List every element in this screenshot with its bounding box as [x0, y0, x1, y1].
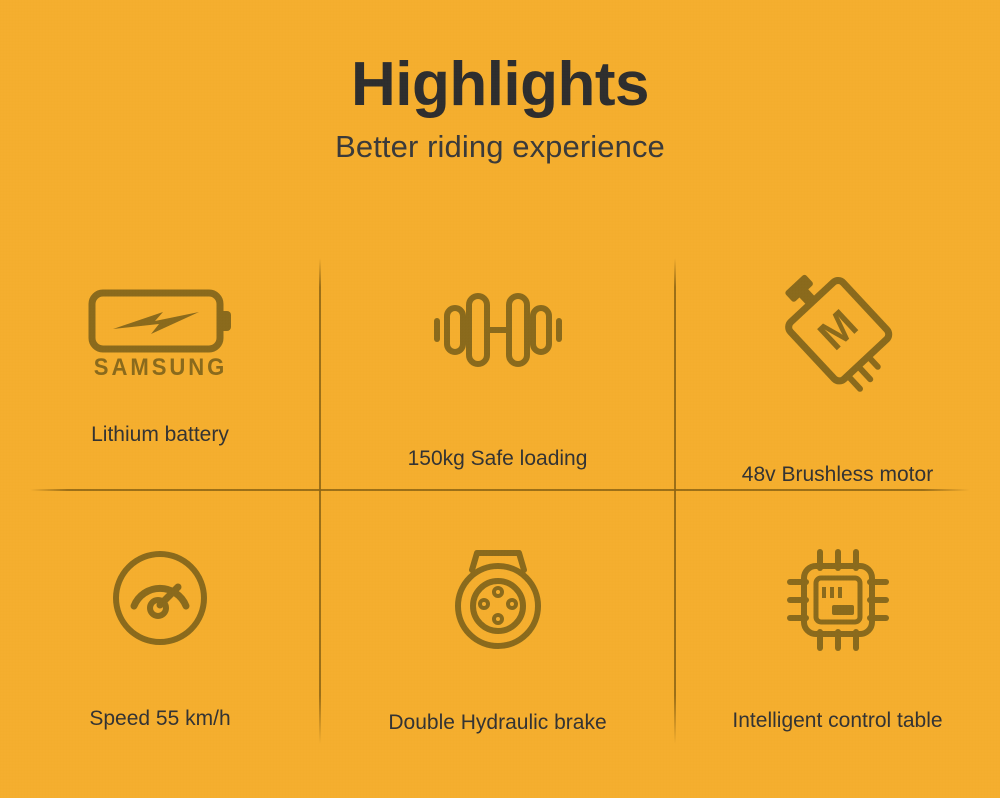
- feature-cell-safe-loading: 150kg Safe loading: [320, 246, 675, 469]
- battery-brand-label: SAMSUNG: [94, 356, 227, 380]
- feature-cell-speed: Speed 55 km/h: [0, 504, 320, 729]
- battery-bolt-icon: SAMSUNG: [87, 288, 233, 380]
- electric-motor-icon: M: [776, 268, 900, 392]
- feature-label-brushless-motor: 48v Brushless motor: [742, 464, 933, 485]
- feature-label-speed: Speed 55 km/h: [89, 708, 230, 729]
- feature-grid: SAMSUNG Lithium battery: [0, 246, 1000, 756]
- page-title: Highlights: [0, 0, 1000, 117]
- feature-label-safe-loading: 150kg Safe loading: [408, 448, 588, 469]
- feature-cell-control-table: Intelligent control table: [675, 504, 1000, 731]
- feature-label-lithium-battery: Lithium battery: [91, 424, 229, 445]
- page-subtitle: Better riding experience: [0, 117, 1000, 165]
- feature-label-hydraulic-brake: Double Hydraulic brake: [388, 712, 606, 733]
- brake-disc-icon: [446, 544, 550, 652]
- header: Highlights Better riding experience: [0, 0, 1000, 165]
- dumbbell-icon: [431, 288, 565, 372]
- svg-text:M: M: [808, 301, 866, 359]
- speedometer-icon: [110, 548, 210, 648]
- feature-cell-hydraulic-brake: Double Hydraulic brake: [320, 504, 675, 733]
- feature-cell-brushless-motor: M 48v Brushless motor: [675, 246, 1000, 485]
- feature-label-control-table: Intelligent control table: [732, 710, 942, 731]
- microchip-icon: [786, 548, 890, 652]
- highlights-banner: Highlights Better riding experience SAMS…: [0, 0, 1000, 798]
- feature-cell-lithium-battery: SAMSUNG Lithium battery: [0, 246, 320, 445]
